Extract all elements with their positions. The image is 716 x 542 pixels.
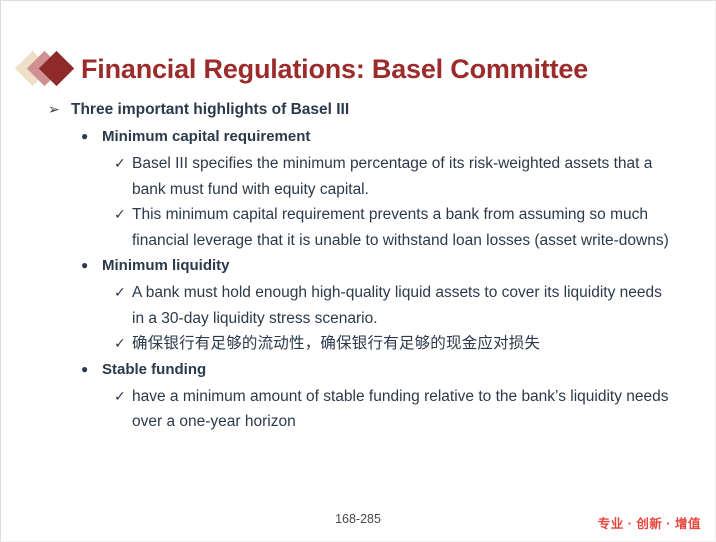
outline-text: 确保银行有足够的流动性，确保银行有足够的现金应对损失 [132,331,672,357]
outline-item-level1: ➢ Three important highlights of Basel II… [1,97,716,122]
footer-tagline: 专业 · 创新 · 增值 [598,513,701,532]
check-bullet-icon: ✓ [114,384,132,410]
outline-item-level2: ● Minimum capital requirement [1,124,716,149]
outline-item-level3: ✓ have a minimum amount of stable fundin… [1,384,716,435]
outline-item-level3: ✓ This minimum capital requirement preve… [1,202,716,253]
circle-bullet-icon: ● [81,357,102,382]
arrow-bullet-icon: ➢ [48,97,71,122]
outline-item-level2: ● Stable funding [1,357,716,382]
check-bullet-icon: ✓ [114,331,132,357]
outline-item-level3: ✓ A bank must hold enough high-quality l… [1,280,716,331]
slide-title-row: Financial Regulations: Basel Committee [19,47,588,91]
outline-text: Basel III specifies the minimum percenta… [132,151,672,202]
check-bullet-icon: ✓ [114,202,132,228]
outline-text: This minimum capital requirement prevent… [132,202,672,253]
outline-item-level3: ✓ 确保银行有足够的流动性，确保银行有足够的现金应对损失 [1,331,716,357]
circle-bullet-icon: ● [81,124,102,149]
outline-text: Minimum capital requirement [102,124,716,149]
page-title: Financial Regulations: Basel Committee [81,56,588,83]
check-bullet-icon: ✓ [114,280,132,306]
circle-bullet-icon: ● [81,253,102,278]
outline-text: Minimum liquidity [102,253,716,278]
outline-item-level2: ● Minimum liquidity [1,253,716,278]
check-bullet-icon: ✓ [114,151,132,177]
slide-body: ➢ Three important highlights of Basel II… [1,97,716,435]
presentation-slide: Financial Regulations: Basel Committee ➢… [0,0,716,542]
outline-item-level3: ✓ Basel III specifies the minimum percen… [1,151,716,202]
diamond-decoration-icon [19,50,75,88]
outline-text: A bank must hold enough high-quality liq… [132,280,672,331]
outline-text: Stable funding [102,357,716,382]
outline-text: have a minimum amount of stable funding … [132,384,672,435]
outline-text: Three important highlights of Basel III [71,97,716,122]
